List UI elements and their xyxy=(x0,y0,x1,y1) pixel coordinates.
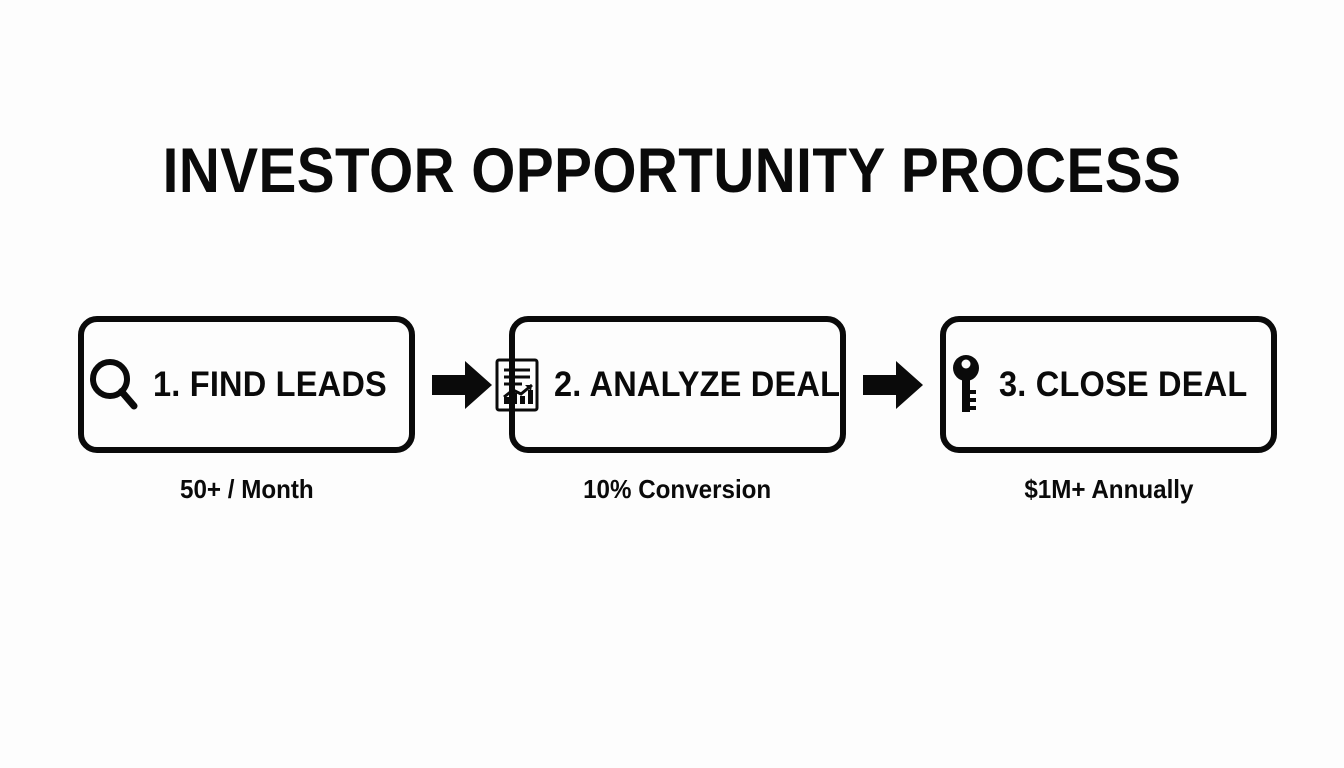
step-label: 2. ANALYZE DEAL xyxy=(554,366,840,404)
step-box-find-leads[interactable]: 1. FIND LEADS xyxy=(78,316,415,453)
page-title: INVESTOR OPPORTUNITY PROCESS xyxy=(67,136,1277,206)
caption-slot-find-leads: 50+ / Month xyxy=(78,474,415,504)
process-captions-row: 50+ / Month 10% Conversion $1M+ Annually xyxy=(78,474,1277,516)
step-label: 3. CLOSE DEAL xyxy=(999,366,1247,404)
key-icon xyxy=(951,354,985,416)
step-caption: 10% Conversion xyxy=(583,474,771,504)
magnifier-icon xyxy=(89,358,139,412)
caption-slot-close-deal: $1M+ Annually xyxy=(940,474,1277,504)
arrow-right-icon xyxy=(428,357,496,413)
step-label: 1. FIND LEADS xyxy=(153,366,387,404)
step-box-close-deal[interactable]: 3. CLOSE DEAL xyxy=(940,316,1277,453)
chart-document-icon xyxy=(494,357,540,413)
step-box-analyze-deal[interactable]: 2. ANALYZE DEAL xyxy=(509,316,846,453)
arrow-right-icon xyxy=(859,357,927,413)
process-flow-row: 1. FIND LEADS xyxy=(78,316,1277,453)
step-caption: 50+ / Month xyxy=(180,474,314,504)
process-diagram: INVESTOR OPPORTUNITY PROCESS 1. FIND LEA… xyxy=(0,0,1344,768)
caption-slot-analyze-deal: 10% Conversion xyxy=(509,474,846,504)
step-caption: $1M+ Annually xyxy=(1024,474,1193,504)
